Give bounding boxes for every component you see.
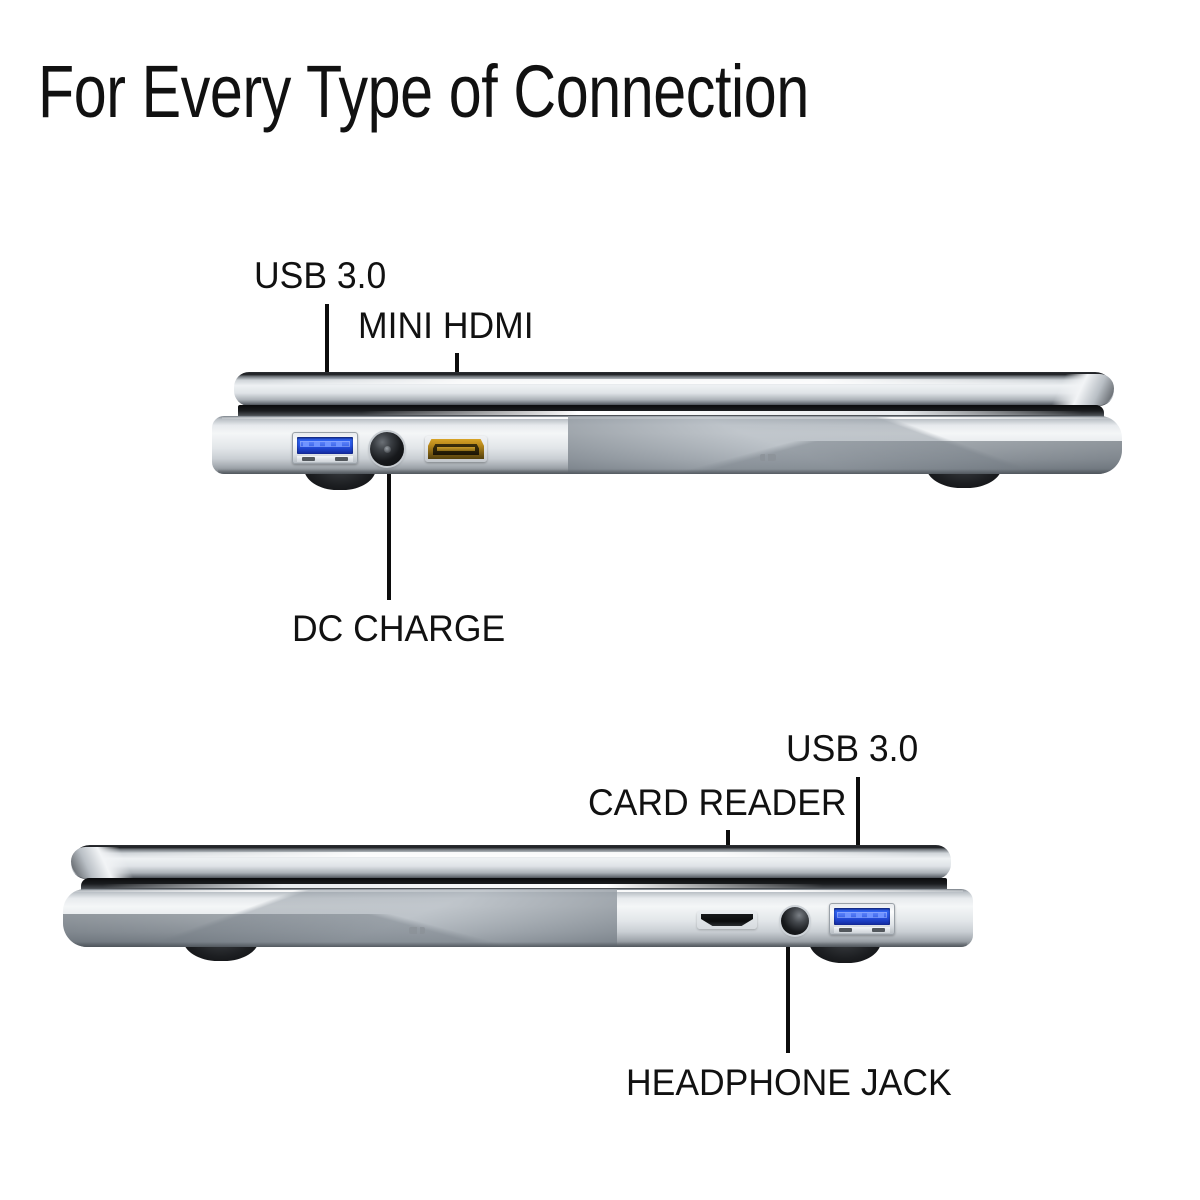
laptop-lid	[234, 372, 1114, 406]
hinge-sheen	[103, 884, 823, 888]
laptop-lid	[71, 845, 951, 879]
infographic-canvas: For Every Type of Connection USB 3.0 MIN…	[0, 0, 1200, 1200]
usb-3-port[interactable]	[292, 432, 358, 464]
hinge-sheen	[362, 411, 1082, 415]
usb-3-cavity	[297, 437, 353, 454]
usb-3-lower-lip	[297, 456, 353, 462]
chassis-indicator-glyph	[760, 454, 776, 461]
dc-charge-port[interactable]	[370, 432, 404, 466]
usb-3-port[interactable]	[829, 903, 895, 935]
mini-hdmi-port[interactable]	[425, 436, 487, 462]
card-reader-cavity	[701, 914, 753, 926]
usb-3-pins	[303, 442, 347, 447]
usb-3-lower-lip	[834, 927, 890, 933]
lid-highlight	[264, 379, 1062, 384]
callout-label-usb-3-bottom: USB 3.0	[786, 728, 918, 770]
usb-3-pins	[840, 913, 884, 918]
lid-taper	[71, 847, 135, 879]
laptop-left-side-profile	[212, 372, 1122, 496]
headphone-jack[interactable]	[781, 907, 809, 935]
callout-label-usb-3-top: USB 3.0	[254, 255, 386, 297]
base-bottom-shadow	[218, 469, 1116, 474]
lid-highlight	[123, 852, 921, 857]
laptop-right-side-profile	[63, 845, 973, 969]
mini-hdmi-tongue	[437, 447, 475, 451]
callout-label-card-reader: CARD READER	[588, 782, 847, 824]
base-bottom-shadow	[69, 942, 967, 947]
card-reader-slot[interactable]	[697, 911, 757, 929]
usb-3-cavity	[834, 908, 890, 925]
lid-taper	[1050, 374, 1114, 406]
chassis-indicator-glyph	[409, 927, 425, 934]
dc-charge-center-pin	[384, 446, 391, 453]
mini-hdmi-shell	[428, 439, 484, 459]
callout-label-mini-hdmi: MINI HDMI	[358, 305, 534, 347]
callout-label-headphone-jack: HEADPHONE JACK	[626, 1062, 952, 1104]
page-title: For Every Type of Connection	[38, 48, 809, 136]
callout-label-dc-charge: DC CHARGE	[292, 608, 505, 650]
